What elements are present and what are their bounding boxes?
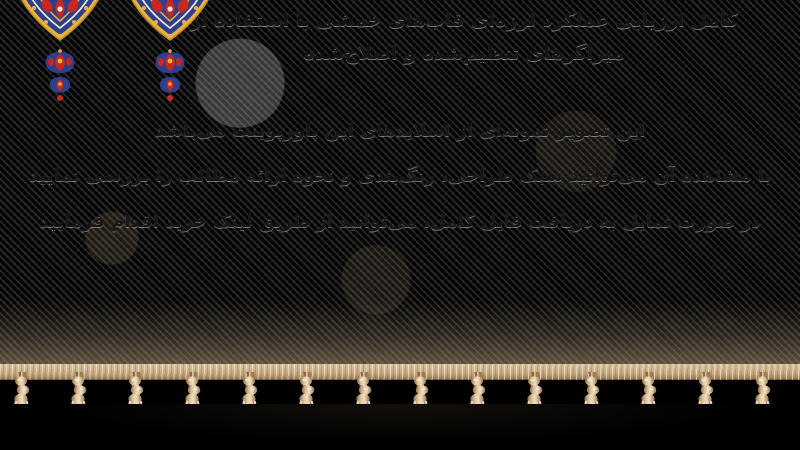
slide-title-line-2: میراگرهای تنظیم‌شده و اصلاح‌شده (164, 37, 764, 70)
persian-medallion-left-icon (8, 0, 112, 104)
slide-title: کامل ارزیابی عملکرد لرزه‌ای قاب‌های خمشی… (164, 4, 764, 69)
body-line-sample-notice: این تصویر نمونه‌ای از اسلایدهای این پاور… (10, 108, 790, 153)
slide-canvas: کامل ارزیابی عملکرد لرزه‌ای قاب‌های خمشی… (0, 0, 800, 450)
black-floor-area (0, 404, 800, 450)
body-line-purchase-link: در صورت تمایل به دریافت فایل کامل، می‌تو… (10, 199, 790, 244)
body-line-design-review: با مشاهده آن می‌توانید سبک طراحی، رنگ‌بن… (10, 153, 790, 198)
slide-body-text: این تصویر نمونه‌ای از اسلایدهای این پاور… (10, 108, 790, 244)
slide-title-line-1: کامل ارزیابی عملکرد لرزه‌ای قاب‌های خمشی… (164, 4, 764, 37)
